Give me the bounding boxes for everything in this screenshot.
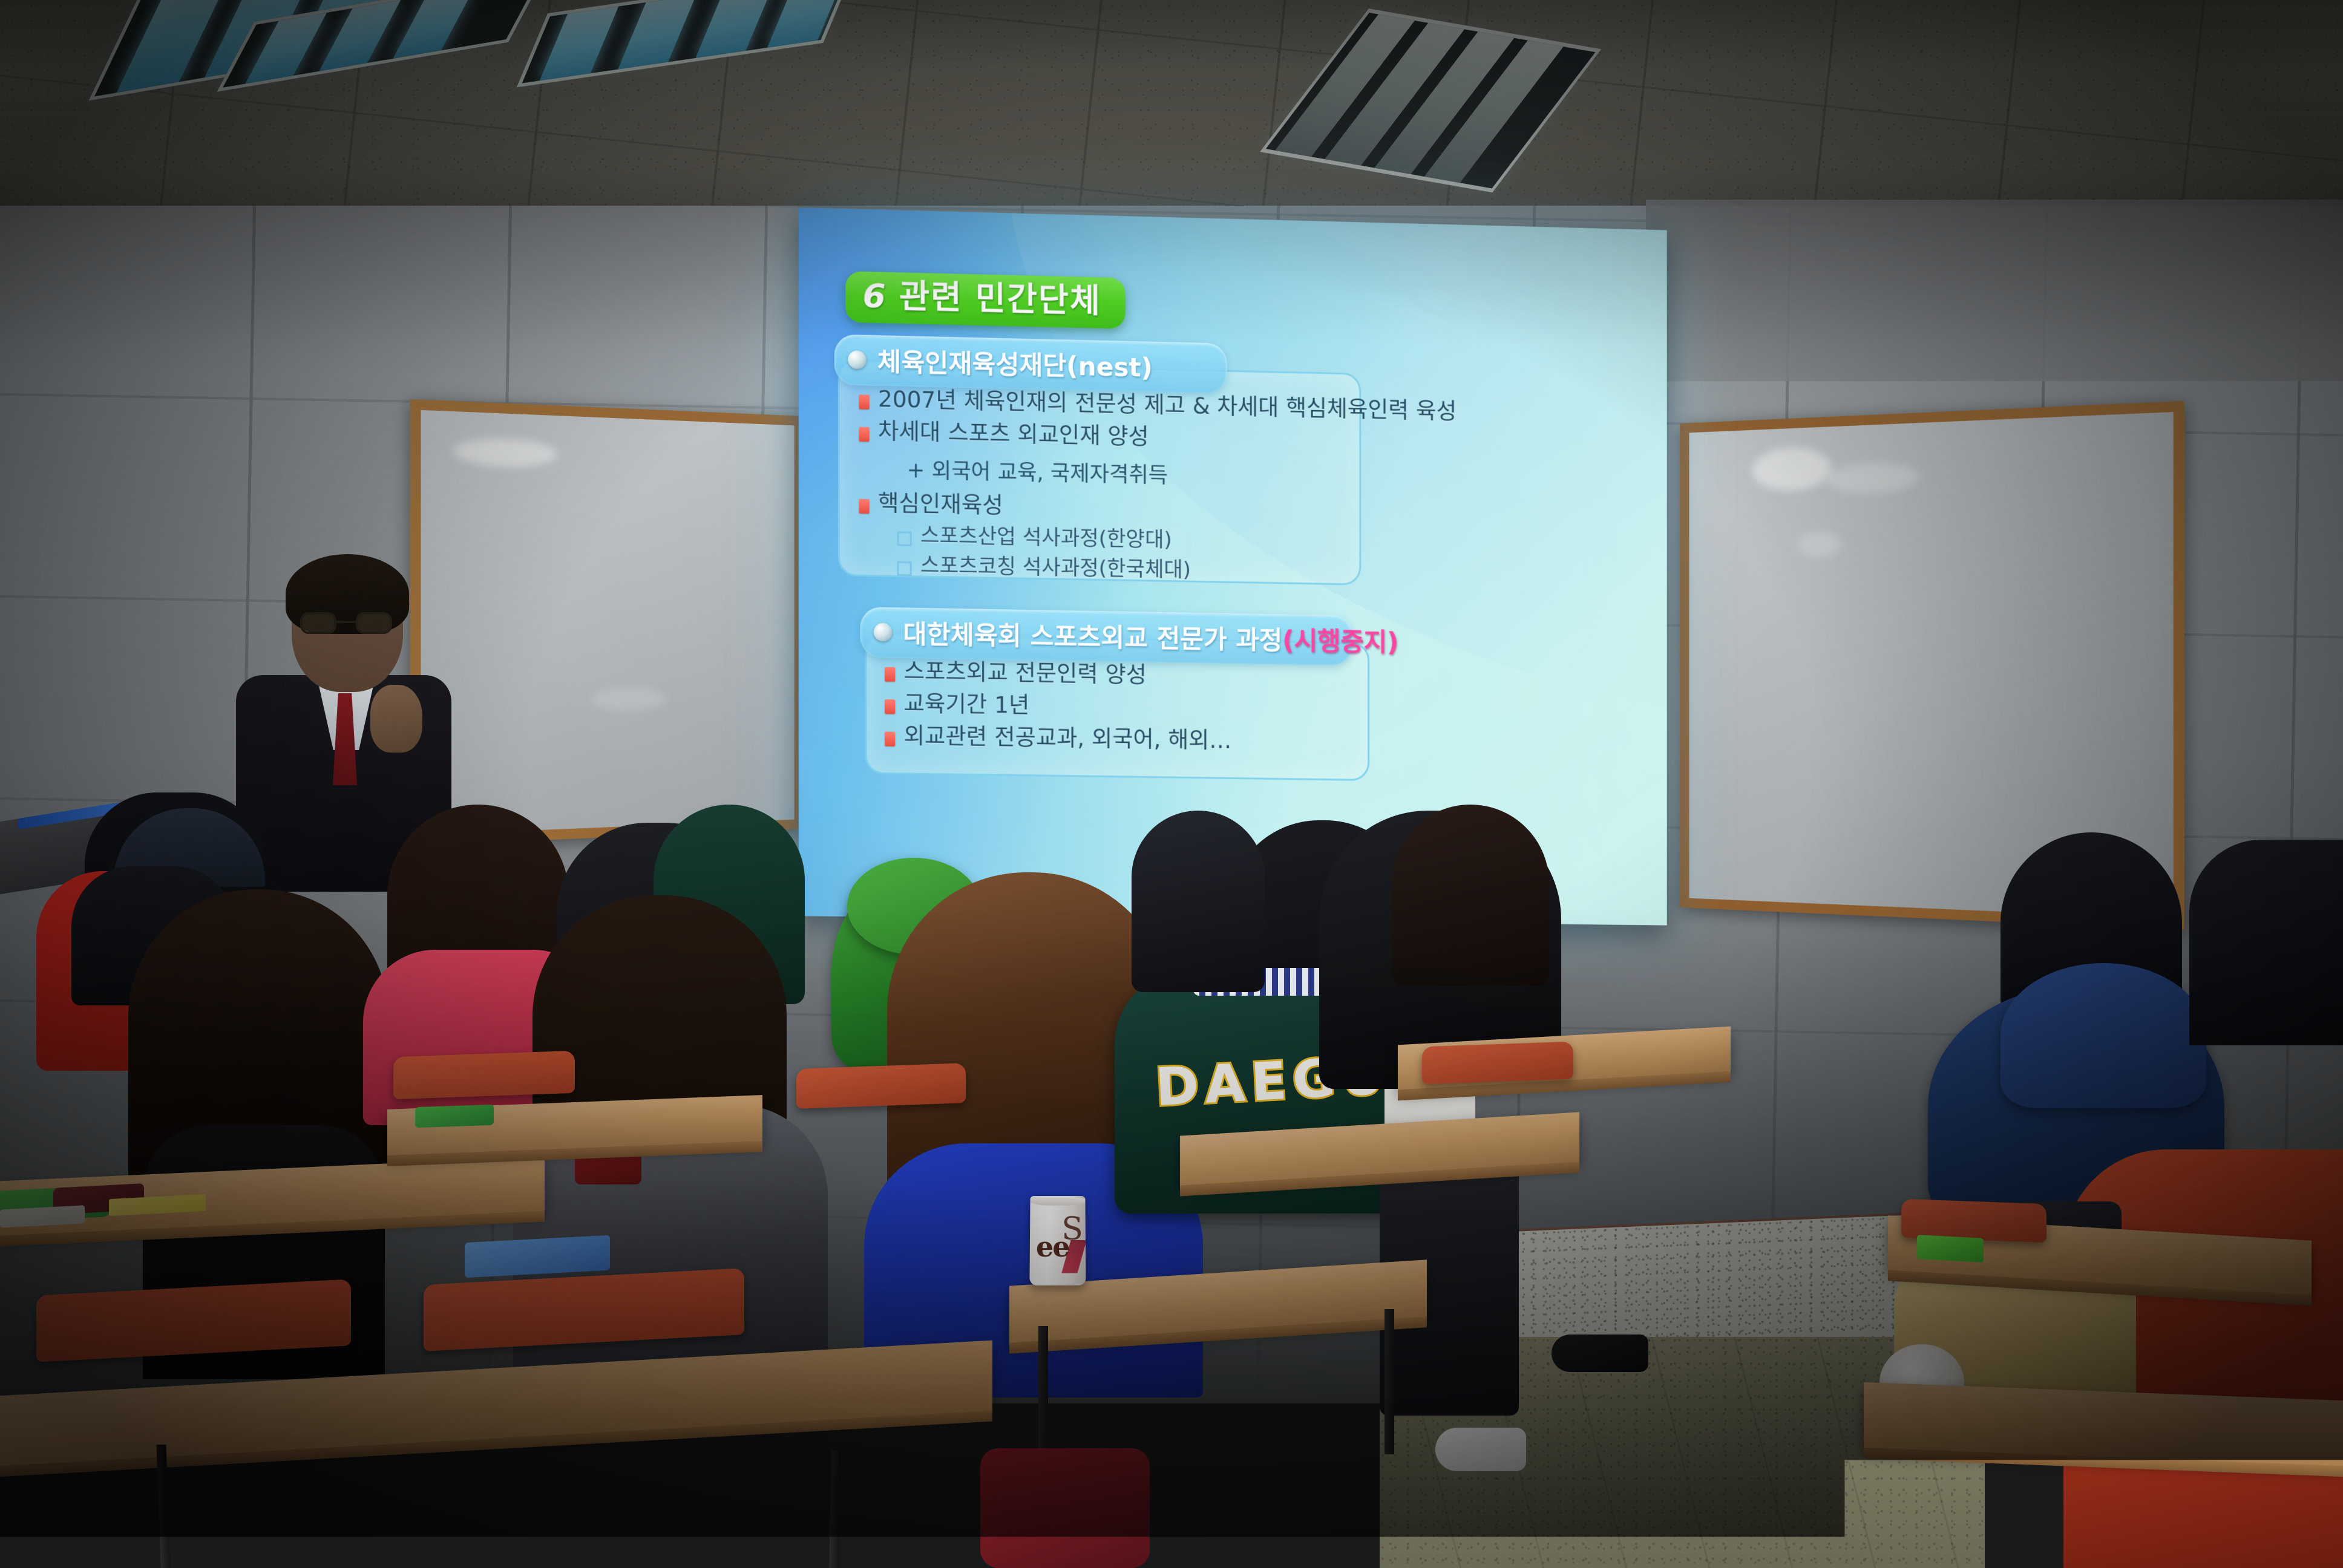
student-black-jacket-center-hair (1392, 805, 1549, 986)
presenter-hand (370, 685, 422, 753)
cup-rim (1029, 1196, 1086, 1206)
backpack-front (980, 1448, 1150, 1568)
chair-back-left (393, 1051, 575, 1099)
desk-leg (829, 1451, 841, 1568)
whiteboard-left (410, 399, 804, 846)
student-navy-puffer-hood (2001, 963, 2206, 1108)
slide-surface: 6 관련 민간단체 체육인재육성재단(nest) 2007년 체육인재의 전문성… (799, 207, 1667, 925)
glasses-icon (300, 612, 392, 634)
classroom-photo-scene: 6 관련 민간단체 체육인재육성재단(nest) 2007년 체육인재의 전문성… (0, 0, 2343, 1568)
chair-back-center (796, 1063, 966, 1109)
paper-coffee-cup: S ee (1029, 1196, 1086, 1285)
chair-back-right (1422, 1042, 1573, 1085)
green-notebook (415, 1105, 494, 1128)
whiteboard-left-surface (421, 410, 795, 835)
wall-upper-band (1646, 200, 2343, 381)
projection-screen: 6 관련 민간단체 체육인재육성재단(nest) 2007년 체육인재의 전문성… (799, 207, 1667, 925)
desk-leg (1384, 1309, 1394, 1454)
cup-brand-text: ee (1036, 1230, 1069, 1263)
student-right-head-2 (2189, 840, 2343, 1045)
green-notepad-right (1917, 1235, 1984, 1263)
student-behind-varsity (1132, 811, 1265, 992)
sneaker-left-icon (1435, 1428, 1526, 1471)
slide-vignette (799, 207, 1667, 925)
sneaker-right-icon (1552, 1334, 1648, 1372)
desk-leg (1038, 1326, 1048, 1465)
